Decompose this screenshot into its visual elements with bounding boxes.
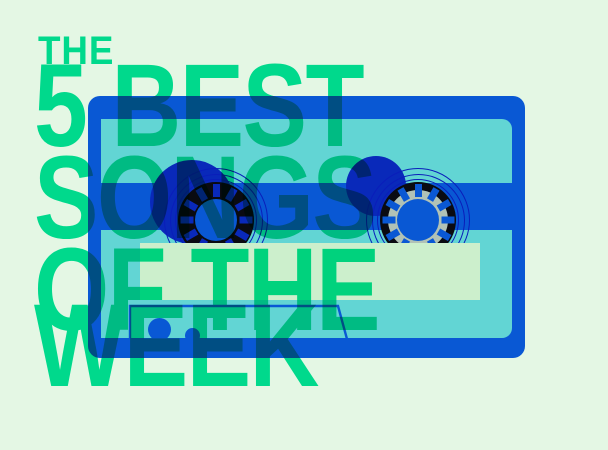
reel-core-right <box>397 199 439 241</box>
cassette-tape-illustration <box>88 96 525 358</box>
reel-core-left <box>195 199 237 241</box>
cassette-label-window <box>140 243 480 300</box>
cassette-screw-dot-small <box>185 328 200 343</box>
poster-canvas: THE 5 BEST SONGS OF THE WEEK <box>0 0 608 450</box>
cassette-screw-dot-large <box>148 318 171 341</box>
